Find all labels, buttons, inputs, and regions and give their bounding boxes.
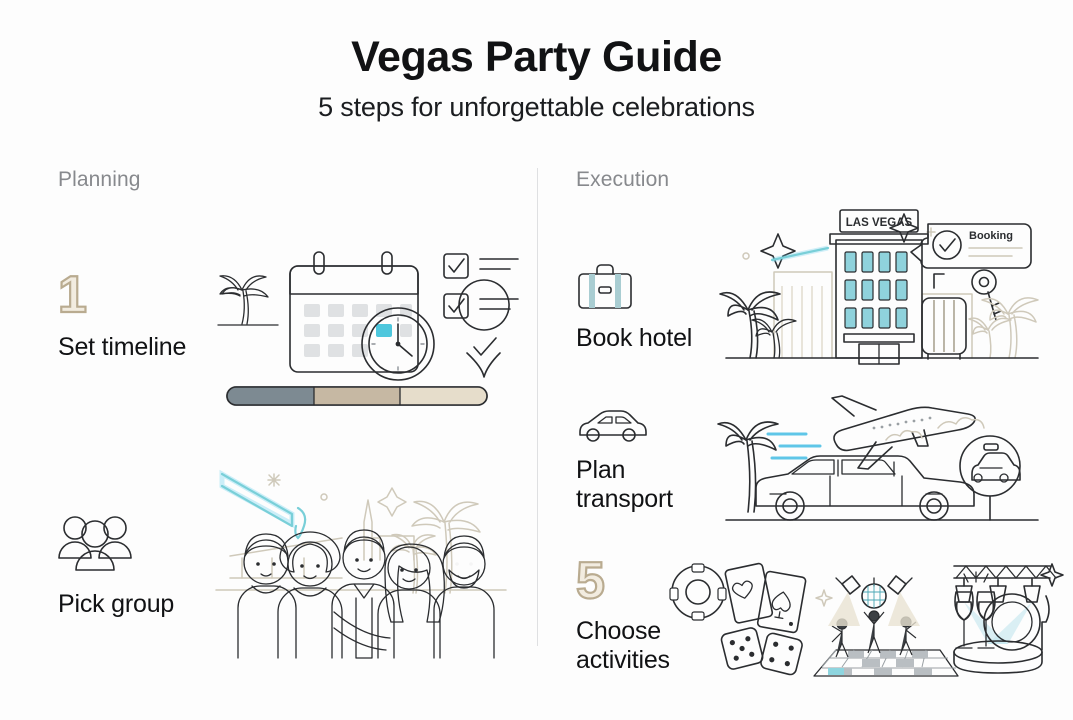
step-label-4: Plan transport [576,456,673,514]
column-execution: Execution Book hotel [576,168,1046,686]
booking-confirmation-card: Booking [911,224,1031,268]
palm-tree-icon [218,276,278,325]
taxi-sign-icon [960,436,1020,520]
calendar-icon [290,252,418,372]
page-subtitle: 5 steps for unforgettable celebrations [0,92,1073,123]
step-label-block-5: 5 Choose activities [576,558,670,675]
hotel-marquee-text: LAS VEGAS [846,217,913,229]
clock-icon [362,308,434,380]
step-label-block-1: 1 Set timeline [58,272,186,362]
step-label-5: Choose activities [576,617,670,675]
step-label-block-2: Pick group [58,512,174,619]
page-title: Vegas Party Guide [0,36,1073,79]
step-label-3: Book hotel [576,324,692,353]
hotel-tower: LAS VEGAS [830,210,928,364]
step-label-block-3: Book hotel [576,262,692,353]
palm-tree-left [720,292,780,358]
step-label-block-4: Plan transport [576,408,673,514]
step-row-pick-group[interactable]: Pick group [58,452,518,682]
stage-truss-icon [954,566,1056,673]
infographic-page: Vegas Party Guide 5 steps for unforgetta… [0,0,1073,720]
disco-ball-icon [862,578,886,608]
speed-lines [768,434,820,458]
limousine-icon [756,456,974,520]
dance-floor-icon [814,650,958,676]
illustration-transport [726,382,1038,534]
car-icon [576,408,673,444]
group-people-icon [58,512,174,574]
progress-segment-1 [227,387,314,405]
playing-cards-icon [725,563,807,633]
step-label-1: Set timeline [58,333,186,362]
checklist-icon [444,254,518,318]
step-label-2: Pick group [58,590,174,619]
step-number-1: 1 [58,272,186,319]
booking-card-text: Booking [969,230,1013,242]
column-heading-execution: Execution [576,168,1046,192]
step-row-plan-transport[interactable]: Plan transport [576,390,1046,542]
poker-chip-icon [670,564,726,620]
progress-segment-3 [400,387,487,405]
step-row-book-hotel[interactable]: Book hotel [576,200,1046,366]
step-row-set-timeline[interactable]: 1 Set timeline [58,200,518,416]
rolling-luggage-icon [922,274,966,359]
step-row-choose-activities[interactable]: 5 Choose activities [576,556,1046,686]
progress-bar [226,386,488,406]
page-header: Vegas Party Guide 5 steps for unforgetta… [0,36,1073,123]
column-planning: Planning 1 Set timeline [58,168,518,682]
progress-segment-2 [314,387,400,405]
illustration-group-people [216,452,506,658]
dice-icon [720,627,803,676]
suitcase-icon [576,262,692,312]
step-number-5: 5 [576,558,670,605]
column-divider [537,168,538,646]
hotel-key-icon [972,270,1001,320]
palm-tree-small-right [969,318,1011,358]
illustration-activities [664,560,1046,682]
column-heading-planning: Planning [58,168,518,192]
illustration-las-vegas-hotel: LAS VEGAS [726,198,1038,368]
